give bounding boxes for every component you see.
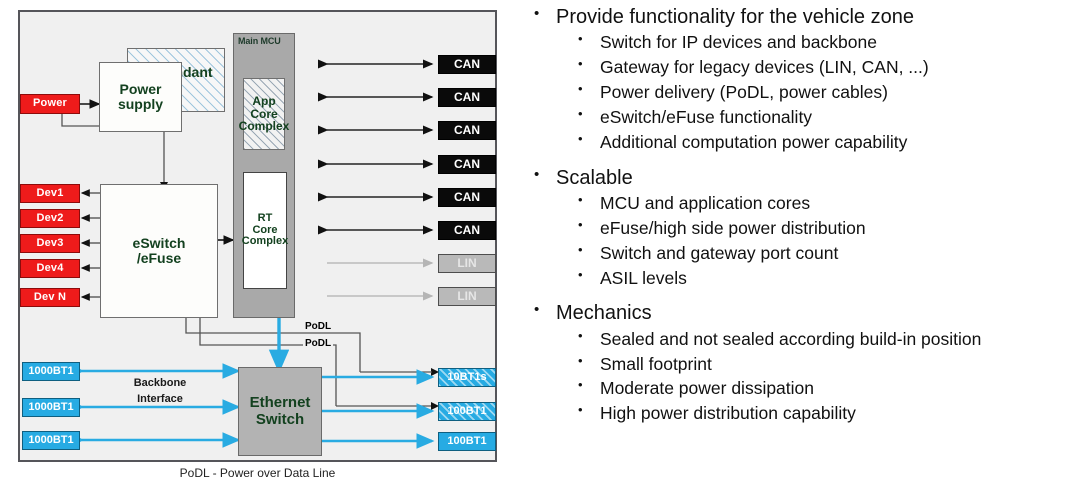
device-chip-3: Dev3 [20, 234, 80, 253]
can-port-5: CAN [438, 188, 496, 207]
bullet-item-label: Small footprint [600, 352, 712, 377]
backbone-port-1: 1000BT1 [22, 362, 80, 381]
bullet-item: • Moderate power dissipation [528, 376, 1080, 401]
bullet-item-label: eSwitch/eFuse functionality [600, 105, 812, 130]
power-supply-block: Power supply [99, 62, 182, 132]
bullet-group-1: • Provide functionality for the vehicle … [528, 4, 1080, 155]
bullet-glyph-icon: • [528, 4, 556, 24]
ethernet-switch-block: Ethernet Switch [238, 367, 322, 456]
bullet-item-label: Moderate power dissipation [600, 376, 814, 401]
bullet-glyph-icon: • [578, 266, 600, 284]
can-port-4: CAN [438, 155, 496, 174]
can-port-1: CAN [438, 55, 496, 74]
bullet-item-label: ASIL levels [600, 266, 687, 291]
power-supply-line1: Power [119, 82, 161, 97]
bullet-item-label: Power delivery (PoDL, power cables) [600, 80, 888, 105]
lin-port-2: LIN [438, 287, 496, 306]
bullet-item: • eFuse/high side power distribution [528, 216, 1080, 241]
bullet-item: • eSwitch/eFuse functionality [528, 105, 1080, 130]
bullet-glyph-icon: • [578, 376, 600, 394]
app-core-line1: App [252, 95, 275, 108]
bullet-glyph-icon: • [578, 216, 600, 234]
ethernet-switch-line1: Ethernet [250, 395, 311, 411]
bullet-glyph-icon: • [578, 352, 600, 370]
backbone-line1: Backbone [110, 376, 210, 392]
bullet-glyph-icon: • [578, 191, 600, 209]
device-chip-1: Dev1 [20, 184, 80, 203]
device-chip-4: Dev4 [20, 259, 80, 278]
bullet-item: • Additional computation power capabilit… [528, 130, 1080, 155]
bullet-glyph-icon: • [528, 300, 556, 320]
bullet-item: • ASIL levels [528, 266, 1080, 291]
power-supply-line2: supply [118, 97, 163, 112]
device-chip-2: Dev2 [20, 209, 80, 228]
bullet-glyph-icon: • [578, 401, 600, 419]
bullet-group-3: • Mechanics • Sealed and not sealed acco… [528, 300, 1080, 426]
bullet-item: • High power distribution capability [528, 401, 1080, 426]
feature-bullet-list: • Provide functionality for the vehicle … [528, 0, 1080, 488]
app-core-complex-block: App Core Complex [243, 78, 285, 150]
bullet-item: • Small footprint [528, 352, 1080, 377]
device-chip-n: Dev N [20, 288, 80, 307]
bullet-item-label: MCU and application cores [600, 191, 810, 216]
backbone-interface-label: Backbone Interface [110, 376, 210, 408]
bullet-item-label: eFuse/high side power distribution [600, 216, 866, 241]
bullet-group-1-title: Provide functionality for the vehicle zo… [556, 4, 914, 30]
bullet-group-1-title-row: • Provide functionality for the vehicle … [528, 4, 1080, 30]
lin-port-1: LIN [438, 254, 496, 273]
bullet-item: • Power delivery (PoDL, power cables) [528, 80, 1080, 105]
can-port-2: CAN [438, 88, 496, 107]
rt-core-line2: Complex [242, 236, 288, 248]
bullet-glyph-icon: • [578, 55, 600, 73]
backbone-port-3: 1000BT1 [22, 431, 80, 450]
eswitch-efuse-block: eSwitch /eFuse [100, 184, 218, 318]
bullet-glyph-icon: • [578, 241, 600, 259]
bullet-item: • Sealed and not sealed according build-… [528, 327, 1080, 352]
bullet-item: • Switch for IP devices and backbone [528, 30, 1080, 55]
bullet-glyph-icon: • [578, 327, 600, 345]
backbone-port-2: 1000BT1 [22, 398, 80, 417]
rt-core-line1: RT Core [244, 213, 286, 237]
bullet-item: • MCU and application cores [528, 191, 1080, 216]
bullet-group-2: • Scalable • MCU and application cores •… [528, 165, 1080, 291]
ethernet-switch-line2: Switch [256, 412, 304, 428]
podl-label-2: PoDL [303, 338, 333, 349]
eswitch-line2: /eFuse [137, 251, 181, 266]
bullet-item-label: Gateway for legacy devices (LIN, CAN, ..… [600, 55, 929, 80]
bullet-item-label: Additional computation power capability [600, 130, 907, 155]
architecture-diagram: Power Redundant Power supply Dev1 Dev2 D… [0, 0, 520, 488]
bullet-glyph-icon: • [578, 30, 600, 48]
bullet-glyph-icon: • [578, 105, 600, 123]
bullet-item-label: Switch for IP devices and backbone [600, 30, 877, 55]
bullet-item-label: High power distribution capability [600, 401, 856, 426]
power-source-chip: Power [20, 94, 80, 114]
main-mcu-label: Main MCU [238, 37, 281, 47]
bullet-group-3-title: Mechanics [556, 300, 652, 326]
bullet-group-2-title-row: • Scalable [528, 165, 1080, 191]
device-port-10bt1s: 10BT1s [438, 368, 496, 387]
backbone-line2: Interface [110, 392, 210, 408]
bullet-item-label: Switch and gateway port count [600, 241, 838, 266]
device-port-100bt1-a: 100BT1 [438, 402, 496, 421]
bullet-glyph-icon: • [528, 165, 556, 185]
app-core-line3: Complex [239, 120, 290, 133]
can-port-6: CAN [438, 221, 496, 240]
bullet-item: • Switch and gateway port count [528, 241, 1080, 266]
bullet-glyph-icon: • [578, 130, 600, 148]
bullet-group-3-title-row: • Mechanics [528, 300, 1080, 326]
diagram-caption: PoDL - Power over Data Line [18, 466, 497, 480]
bullet-item: • Gateway for legacy devices (LIN, CAN, … [528, 55, 1080, 80]
bullet-glyph-icon: • [578, 80, 600, 98]
can-port-3: CAN [438, 121, 496, 140]
bullet-item-label: Sealed and not sealed according build-in… [600, 327, 981, 352]
rt-core-complex-block: RT Core Complex [243, 172, 287, 289]
podl-label-1: PoDL [303, 321, 333, 332]
bullet-group-2-title: Scalable [556, 165, 633, 191]
device-port-100bt1-b: 100BT1 [438, 432, 496, 451]
eswitch-line1: eSwitch [133, 236, 186, 251]
